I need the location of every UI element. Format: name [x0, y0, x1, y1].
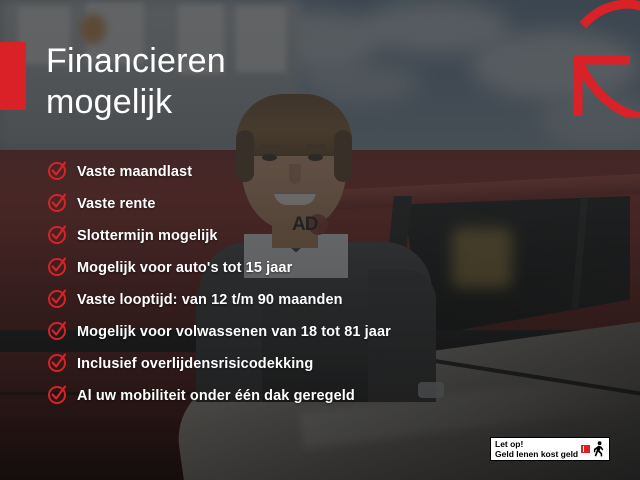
- list-item: Mogelijk voor volwassenen van 18 tot 81 …: [47, 316, 607, 348]
- list-item-label: Mogelijk voor volwassenen van 18 tot 81 …: [77, 324, 391, 340]
- check-circle-icon: [47, 287, 77, 313]
- check-circle-icon: [47, 319, 77, 345]
- list-item: Vaste looptijd: van 12 t/m 90 maanden: [47, 284, 607, 316]
- list-item: Vaste rente: [47, 188, 607, 220]
- list-item: Mogelijk voor auto's tot 15 jaar: [47, 252, 607, 284]
- list-item-label: Inclusief overlijdensrisicodekking: [77, 356, 313, 372]
- title-line-1: Financieren: [46, 42, 226, 80]
- check-circle-icon: [47, 191, 77, 217]
- check-circle-icon: [47, 223, 77, 249]
- list-item: Vaste maandlast: [47, 156, 607, 188]
- feature-list: Vaste maandlastVaste renteSlottermijn mo…: [47, 156, 607, 412]
- warning-text: Let op! Geld lenen kost geld: [495, 439, 578, 459]
- list-item-label: Vaste rente: [77, 196, 155, 212]
- check-circle-icon: [47, 255, 77, 281]
- list-item: Inclusief overlijdensrisicodekking: [47, 348, 607, 380]
- abstract-arc-logo-icon: [548, 0, 640, 118]
- red-accent-block: [0, 42, 26, 110]
- check-circle-icon: [47, 383, 77, 409]
- euro-flag-icon: [581, 445, 590, 453]
- title-line-2: mogelijk: [46, 82, 376, 123]
- check-circle-icon: [47, 351, 77, 377]
- list-item-label: Al uw mobiliteit onder één dak geregeld: [77, 388, 355, 404]
- list-item: Slottermijn mogelijk: [47, 220, 607, 252]
- list-item-label: Vaste maandlast: [77, 164, 192, 180]
- page-title: Financieren mogelijk: [46, 41, 376, 123]
- check-circle-icon: [47, 159, 77, 185]
- warning-line-2: Geld lenen kost geld: [495, 449, 578, 459]
- walking-man-icon: [591, 441, 605, 457]
- status-badge: Let op! Geld lenen kost geld: [490, 437, 610, 461]
- list-item: Al uw mobiliteit onder één dak geregeld: [47, 380, 607, 412]
- list-item-label: Slottermijn mogelijk: [77, 228, 218, 244]
- warning-line-1: Let op!: [495, 439, 578, 449]
- list-item-label: Vaste looptijd: van 12 t/m 90 maanden: [77, 292, 343, 308]
- warning-icons: [581, 441, 605, 457]
- list-item-label: Mogelijk voor auto's tot 15 jaar: [77, 260, 292, 276]
- promo-banner: AD Financieren mogelijk Vaste maandlastV…: [0, 0, 640, 480]
